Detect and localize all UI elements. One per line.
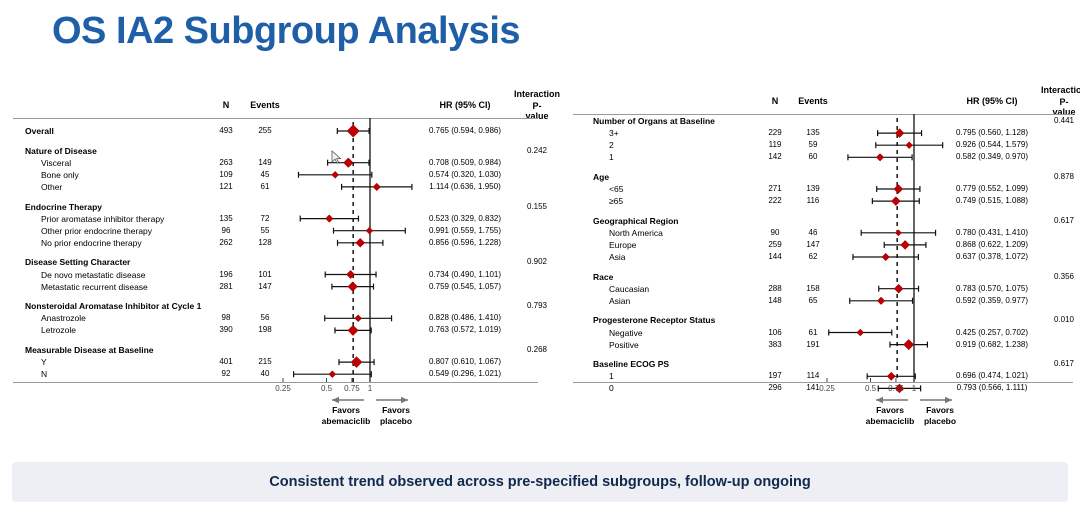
row-events: 61 [261,182,270,192]
axis-divider [13,382,538,383]
row-label-endocrine-therapy: Endocrine Therapy [25,202,102,212]
hr-point-marker [891,197,900,206]
row-n: 142 [768,152,781,162]
axis-tick-label: 0.25 [275,384,291,393]
row-hr-ci: 0.783 (0.570, 1.075) [956,284,1028,294]
row-events: 65 [809,296,818,306]
summary-banner-text: Consistent trend observed across pre-spe… [269,474,810,490]
row-hr-ci: 0.795 (0.560, 1.128) [956,128,1028,138]
row-label-progesterone-receptor-status: Progesterone Receptor Status [593,315,715,325]
favors-abemaciclib-label: abemaciclib [866,416,915,426]
row-n: 262 [219,238,232,248]
row-n: 222 [768,196,781,206]
hr-point-marker [904,339,914,349]
hr-point-marker [348,282,358,292]
row-label-65: <65 [609,184,623,194]
row-label-overall: Overall [25,126,54,136]
row-events: 46 [809,228,818,238]
hr-point-marker [347,125,359,137]
row-events: 215 [258,357,271,367]
favors-placebo-label: Favors [926,405,954,415]
row-events: 141 [806,383,819,393]
axis-tick-label: 0.75 [888,384,904,393]
row-interaction-pvalue: 0.617 [1054,359,1074,369]
row-interaction-pvalue: 0.268 [527,345,547,355]
row-hr-ci: 0.523 (0.329, 0.832) [429,214,501,224]
row-events: 55 [261,226,270,236]
row-label-y: Y [41,357,47,367]
row-hr-ci: 0.856 (0.596, 1.228) [429,238,501,248]
row-hr-ci: 1.114 (0.636, 1.950) [429,182,500,192]
hr-point-marker [373,183,381,191]
hr-point-marker [894,284,903,293]
row-label-other-prior-endocrine-therapy: Other prior endocrine therapy [41,226,152,236]
axis-tick-label: 0.25 [819,384,835,393]
row-hr-ci: 0.425 (0.257, 0.702) [956,328,1028,338]
row-events: 60 [809,152,818,162]
hr-point-marker [876,154,884,162]
row-label-n: N [41,369,47,379]
row-label-metastatic-recurrent-disease: Metastatic recurrent disease [41,282,148,292]
hr-point-marker [901,240,910,249]
row-interaction-pvalue: 0.441 [1054,116,1074,126]
row-interaction-pvalue: 0.793 [527,301,547,311]
row-n: 401 [219,357,232,367]
row-label-2: 2 [609,140,614,150]
hr-point-marker [857,329,864,336]
row-label-1: 1 [609,371,614,381]
row-hr-ci: 0.734 (0.490, 1.101) [429,270,501,280]
row-n: 119 [769,140,782,150]
row-n: 281 [219,282,232,292]
row-interaction-pvalue: 0.902 [527,257,547,267]
row-n: 259 [768,240,781,250]
row-events: 59 [809,140,818,150]
row-events: 72 [261,214,270,224]
hr-point-marker [906,142,913,149]
row-label-3: 3+ [609,128,619,138]
row-hr-ci: 0.807 (0.610, 1.067) [429,357,501,367]
row-n: 135 [219,214,232,224]
row-label-positive: Positive [609,340,639,350]
row-label-baseline-ecog-ps: Baseline ECOG PS [593,359,669,369]
row-interaction-pvalue: 0.155 [527,202,547,212]
row-hr-ci: 0.592 (0.359, 0.977) [956,296,1028,306]
forest-panel-left: NEventsHR (95% CI)InteractionP-valueOver… [0,0,560,450]
row-interaction-pvalue: 0.878 [1054,172,1074,182]
row-label-geographical-region: Geographical Region [593,216,679,226]
row-hr-ci: 0.696 (0.474, 1.021) [956,371,1028,381]
axis-tick-label: 0.5 [321,384,332,393]
row-n: 288 [768,284,781,294]
row-label-prior-aromatase-inhibitor-therapy: Prior aromatase inhibitor therapy [41,214,164,224]
row-n: 390 [219,325,232,335]
row-label-nature-of-disease: Nature of Disease [25,146,97,156]
row-label-measurable-disease-at-baseline: Measurable Disease at Baseline [25,345,154,355]
hr-point-marker [344,158,354,168]
favors-placebo-label: placebo [924,416,956,426]
hr-point-marker [326,215,334,223]
favors-abemaciclib-label: Favors [876,405,904,415]
row-hr-ci: 0.749 (0.515, 1.088) [956,196,1028,206]
row-hr-ci: 0.763 (0.572, 1.019) [429,325,501,335]
hr-point-marker [329,371,336,378]
row-label-no-prior-endocrine-therapy: No prior endocrine therapy [41,238,142,248]
row-n: 296 [768,383,781,393]
row-events: 56 [261,313,270,323]
axis-tick-label: 0.5 [865,384,876,393]
row-label-other: Other [41,182,62,192]
axis-tick-label: 1 [912,384,916,393]
row-label-race: Race [593,272,613,282]
row-interaction-pvalue: 0.010 [1054,315,1074,325]
row-hr-ci: 0.991 (0.559, 1.755) [429,226,501,236]
row-events: 114 [807,371,820,381]
row-events: 149 [258,158,271,168]
hr-point-marker [356,238,365,247]
row-label-anastrozole: Anastrozole [41,313,86,323]
axis-tick-label: 1 [368,384,372,393]
row-n: 271 [768,184,781,194]
hr-point-marker [332,171,339,178]
row-label-0: 0 [609,383,614,393]
row-n: 92 [222,369,231,379]
row-n: 144 [768,252,781,262]
hr-point-marker [894,185,903,194]
favors-abemaciclib-label: Favors [332,405,360,415]
mouse-cursor-icon [331,150,343,164]
hr-point-marker [366,227,373,234]
row-hr-ci: 0.637 (0.378, 1.072) [956,252,1028,262]
row-label-number-of-organs-at-baseline: Number of Organs at Baseline [593,116,715,126]
axis-tick-label: 0.75 [344,384,360,393]
row-label-bone-only: Bone only [41,170,79,180]
row-n: 196 [219,270,232,280]
row-events: 191 [806,340,819,350]
hr-point-marker [355,315,362,322]
row-label-asia: Asia [609,252,626,262]
row-events: 139 [806,184,819,194]
row-hr-ci: 0.549 (0.296, 1.021) [429,369,501,379]
row-events: 101 [258,270,271,280]
row-events: 158 [806,284,819,294]
row-label-visceral: Visceral [41,158,71,168]
row-hr-ci: 0.868 (0.622, 1.209) [956,240,1028,250]
hr-point-marker [348,325,358,335]
row-events: 135 [806,128,819,138]
row-label-europe: Europe [609,240,636,250]
row-label-north-america: North America [609,228,663,238]
row-label-asian: Asian [609,296,630,306]
row-hr-ci: 0.582 (0.349, 0.970) [956,152,1028,162]
row-n: 197 [768,371,781,381]
row-label-nonsteroidal-aromatase-inhibitor-at-cycle-1: Nonsteroidal Aromatase Inhibitor at Cycl… [25,301,201,311]
forest-panel-right: NEventsHR (95% CI)InteractionP-valueNumb… [560,0,1080,450]
hr-point-marker [882,253,890,261]
row-n: 263 [219,158,232,168]
row-hr-ci: 0.759 (0.545, 1.057) [429,282,501,292]
row-hr-ci: 0.919 (0.682, 1.238) [956,340,1028,350]
row-events: 40 [261,369,270,379]
row-n: 121 [219,182,232,192]
row-hr-ci: 0.779 (0.552, 1.099) [956,184,1028,194]
row-hr-ci: 0.793 (0.566, 1.111) [957,383,1028,393]
favors-placebo-label: placebo [380,416,412,426]
row-events: 128 [258,238,271,248]
hr-point-marker [895,230,901,236]
row-n: 106 [768,328,781,338]
row-events: 255 [258,126,271,136]
row-n: 96 [222,226,231,236]
row-events: 198 [258,325,271,335]
row-events: 147 [806,240,819,250]
row-n: 493 [219,126,232,136]
row-interaction-pvalue: 0.242 [527,146,547,156]
row-label-negative: Negative [609,328,643,338]
row-interaction-pvalue: 0.356 [1054,272,1074,282]
favors-abemaciclib-label: abemaciclib [322,416,371,426]
row-label-de-novo-metastatic-disease: De novo metastatic disease [41,270,145,280]
row-events: 61 [809,328,818,338]
row-hr-ci: 0.765 (0.594, 0.986) [429,126,501,136]
row-hr-ci: 0.926 (0.544, 1.579) [956,140,1028,150]
row-n: 90 [771,228,780,238]
row-label-letrozole: Letrozole [41,325,76,335]
favors-placebo-label: Favors [382,405,410,415]
row-n: 109 [219,170,232,180]
row-label-1: 1 [609,152,614,162]
hr-point-marker [887,372,895,380]
row-n: 98 [222,313,231,323]
row-hr-ci: 0.828 (0.486, 1.410) [429,313,501,323]
row-hr-ci: 0.780 (0.431, 1.410) [956,228,1028,238]
row-hr-ci: 0.574 (0.320, 1.030) [429,170,501,180]
row-events: 62 [809,252,818,262]
row-label-age: Age [593,172,609,182]
row-events: 45 [261,170,270,180]
row-n: 383 [768,340,781,350]
row-n: 148 [768,296,781,306]
row-label-caucasian: Caucasian [609,284,649,294]
summary-banner: Consistent trend observed across pre-spe… [12,462,1068,502]
row-interaction-pvalue: 0.617 [1054,216,1074,226]
row-events: 116 [807,196,820,206]
row-events: 147 [258,282,271,292]
row-n: 229 [768,128,781,138]
row-label-65: ≥65 [609,196,623,206]
hr-point-marker [877,297,885,305]
row-label-disease-setting-character: Disease Setting Character [25,257,130,267]
row-hr-ci: 0.708 (0.509, 0.984) [429,158,501,168]
axis-divider [573,382,1073,383]
